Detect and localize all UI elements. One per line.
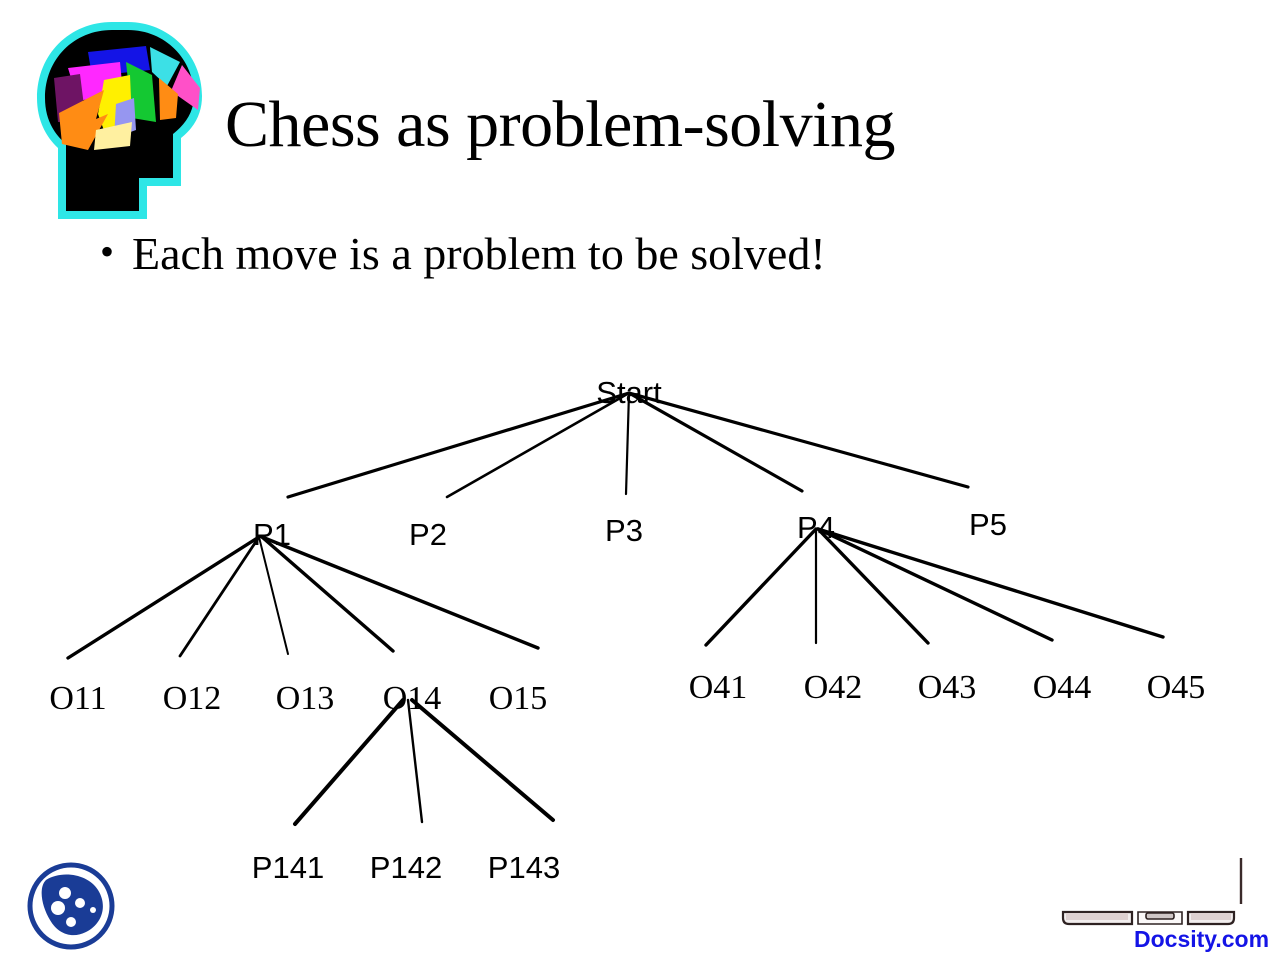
tree-edge <box>629 393 968 487</box>
tree-edge <box>706 529 816 645</box>
tree-node-p4: P4 <box>797 511 835 545</box>
tree-node-o43: O43 <box>918 670 977 706</box>
tree-node-o42: O42 <box>804 670 863 706</box>
tree-node-o11: O11 <box>49 681 106 717</box>
tree-node-o41: O41 <box>689 670 748 706</box>
tree-node-o15: O15 <box>489 681 548 717</box>
laptop-base-graphic <box>1060 856 1260 936</box>
tree-node-p141: P141 <box>252 851 324 885</box>
tree-node-start: Start <box>596 376 661 410</box>
device-strip-left <box>1066 913 1128 920</box>
tree-edge <box>68 537 259 658</box>
tree-node-p2: P2 <box>409 518 447 552</box>
tree-node-o14: O14 <box>383 681 442 717</box>
tree-node-p1: P1 <box>253 518 291 552</box>
tree-edge <box>295 700 403 824</box>
presentation-slide: Chess as problem-solving • Each move is … <box>0 0 1280 960</box>
tree-node-p142: P142 <box>370 851 442 885</box>
tree-node-p5: P5 <box>969 508 1007 542</box>
search-tree-diagram: StartP1P2P3P4P5O11O12O13O14O15O41O42O43O… <box>0 0 1280 960</box>
tree-node-o44: O44 <box>1033 670 1092 706</box>
logo-dot-2 <box>51 901 65 915</box>
tree-edge <box>408 700 422 822</box>
device-strip-right <box>1191 913 1231 920</box>
logo-dot-5 <box>90 907 96 913</box>
tree-edge <box>412 700 553 820</box>
tree-edge <box>262 537 393 651</box>
tree-node-p3: P3 <box>605 514 643 548</box>
device-trackpad <box>1146 913 1174 919</box>
tree-edge <box>180 537 259 656</box>
docsity-circle-logo <box>22 858 120 954</box>
tree-edge <box>262 537 538 648</box>
logo-dot-3 <box>75 898 85 908</box>
logo-dot-4 <box>66 917 76 927</box>
docsity-watermark[interactable]: Docsity.com <box>1134 926 1269 953</box>
tree-edge <box>288 393 629 497</box>
tree-node-p143: P143 <box>488 851 560 885</box>
tree-node-o45: O45 <box>1147 670 1206 706</box>
tree-edges-layer <box>0 0 1280 960</box>
tree-node-o12: O12 <box>163 681 222 717</box>
tree-node-o13: O13 <box>276 681 335 717</box>
logo-dot-1 <box>59 887 71 899</box>
tree-edge <box>818 529 1052 640</box>
